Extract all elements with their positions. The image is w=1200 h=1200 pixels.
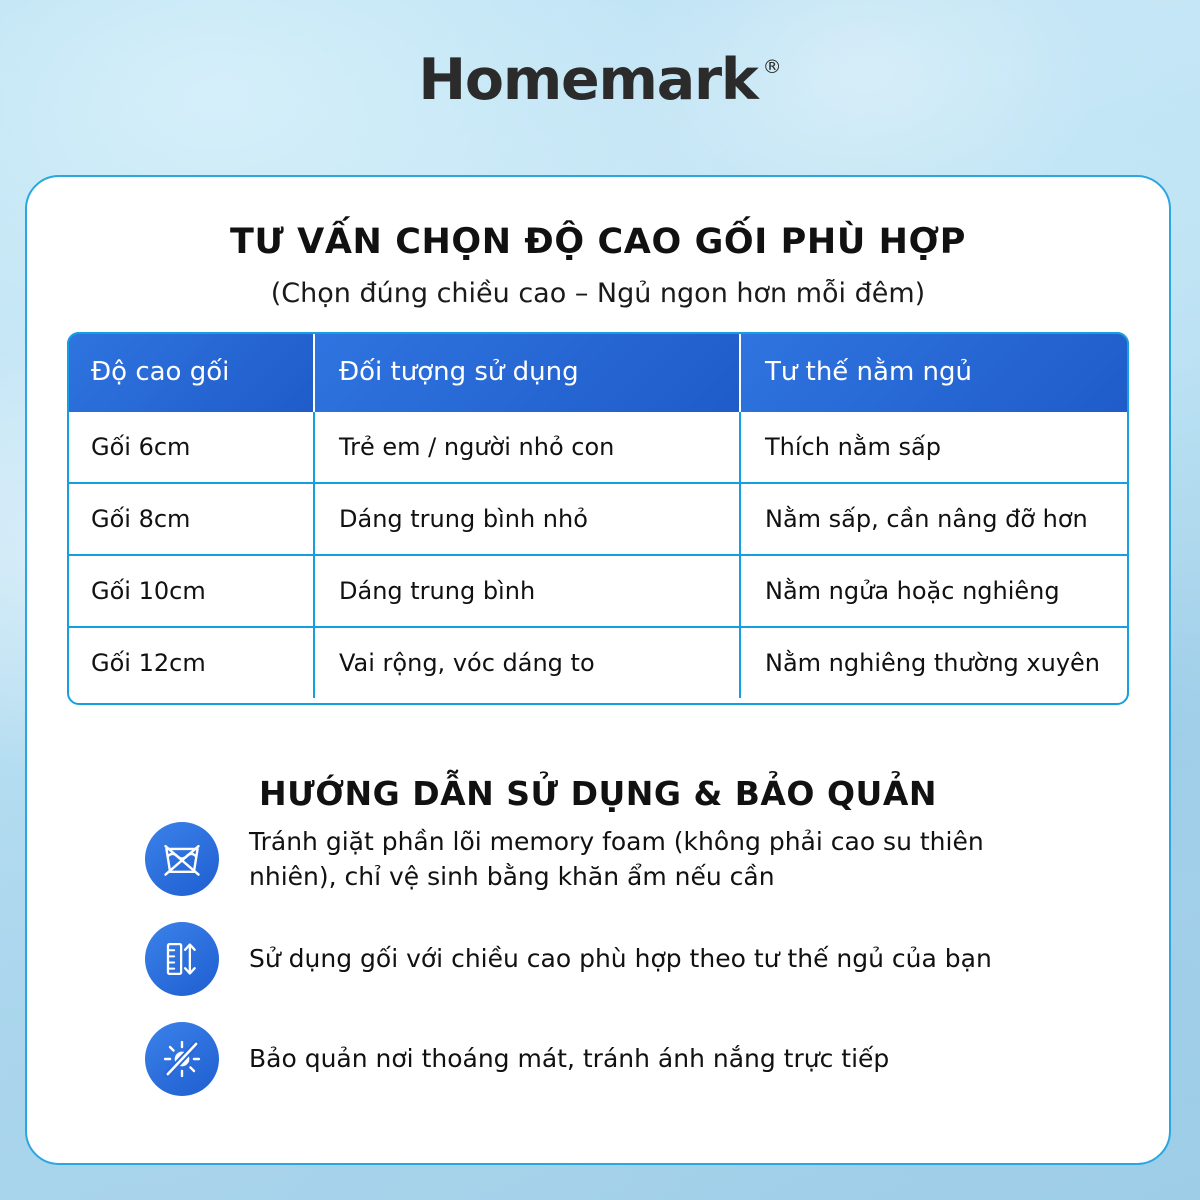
list-item: Tránh giặt phần lõi memory foam (không p… (145, 822, 1075, 896)
page-title: TƯ VẤN CHỌN ĐỘ CAO GỐI PHÙ HỢP (27, 222, 1169, 262)
table-row: Gối 6cm Trẻ em / người nhỏ con Thích nằm… (67, 412, 1129, 483)
table-header-row: Độ cao gối Đối tượng sử dụng Tư thế nằm … (67, 332, 1129, 412)
cell-user: Dáng trung bình nhỏ (314, 483, 740, 555)
care-instruction-list: Tránh giặt phần lõi memory foam (không p… (145, 822, 1075, 1124)
table-head: Độ cao gối Đối tượng sử dụng Tư thế nằm … (67, 332, 1129, 412)
cell-height: Gối 6cm (67, 412, 314, 483)
page-subtitle: (Chọn đúng chiều cao – Ngủ ngon hơn mỗi … (27, 278, 1169, 309)
info-card: TƯ VẤN CHỌN ĐỘ CAO GỐI PHÙ HỢP (Chọn đún… (25, 175, 1171, 1165)
registered-trademark-icon: ® (763, 58, 782, 77)
cell-user: Vai rộng, vóc dáng to (314, 627, 740, 698)
cell-position: Nằm ngửa hoặc nghiêng (740, 555, 1129, 627)
cell-height: Gối 8cm (67, 483, 314, 555)
pillow-height-table: Độ cao gối Đối tượng sử dụng Tư thế nằm … (67, 332, 1129, 698)
cell-position: Thích nằm sấp (740, 412, 1129, 483)
care-item-text: Tránh giặt phần lõi memory foam (không p… (249, 824, 1075, 895)
no-wash-icon (145, 822, 219, 896)
cell-height: Gối 12cm (67, 627, 314, 698)
table-row: Gối 10cm Dáng trung bình Nằm ngửa hoặc n… (67, 555, 1129, 627)
logo-lockup: Homemark ® (418, 52, 781, 109)
brand-logo: Homemark ® (0, 0, 1200, 160)
care-item-text: Bảo quản nơi thoáng mát, tránh ánh nắng … (249, 1041, 889, 1077)
column-header-height: Độ cao gối (67, 332, 314, 412)
table-body: Gối 6cm Trẻ em / người nhỏ con Thích nằm… (67, 412, 1129, 698)
list-item: Bảo quản nơi thoáng mát, tránh ánh nắng … (145, 1022, 1075, 1096)
column-header-user: Đối tượng sử dụng (314, 332, 740, 412)
table-row: Gối 12cm Vai rộng, vóc dáng to Nằm nghiê… (67, 627, 1129, 698)
cell-height: Gối 10cm (67, 555, 314, 627)
list-item: Sử dụng gối với chiều cao phù hợp theo t… (145, 922, 1075, 996)
cell-position: Nằm sấp, cần nâng đỡ hơn (740, 483, 1129, 555)
cell-user: Dáng trung bình (314, 555, 740, 627)
no-sunlight-icon (145, 1022, 219, 1096)
ruler-height-icon (145, 922, 219, 996)
column-header-position: Tư thế nằm ngủ (740, 332, 1129, 412)
logo-wordmark: Homemark (418, 52, 757, 109)
table-row: Gối 8cm Dáng trung bình nhỏ Nằm sấp, cần… (67, 483, 1129, 555)
care-item-text: Sử dụng gối với chiều cao phù hợp theo t… (249, 941, 992, 977)
cell-user: Trẻ em / người nhỏ con (314, 412, 740, 483)
cell-position: Nằm nghiêng thường xuyên (740, 627, 1129, 698)
care-section-title: HƯỚNG DẪN SỬ DỤNG & BẢO QUẢN (27, 774, 1169, 813)
